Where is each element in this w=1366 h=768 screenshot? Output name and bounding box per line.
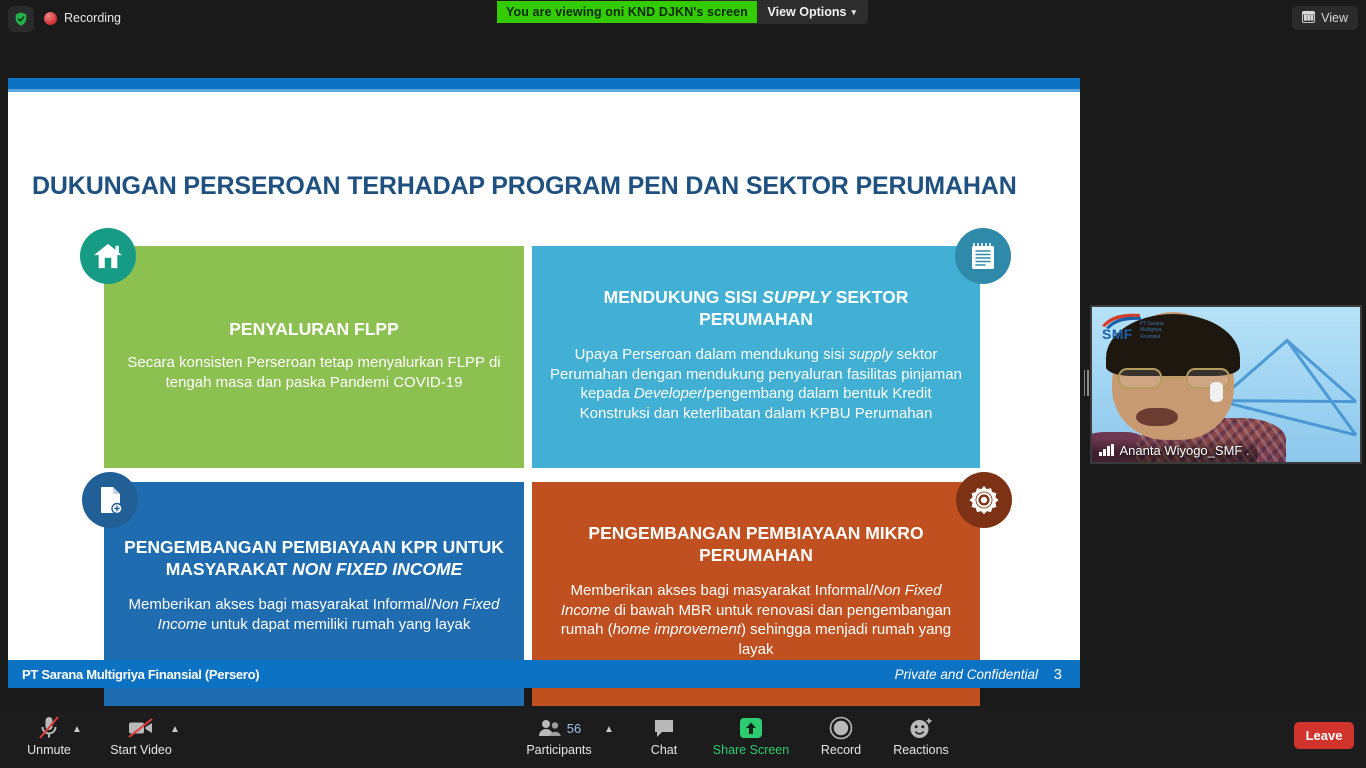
- smf-watermark-subtext: PT SaranaMultigriyaFinansial: [1140, 321, 1164, 340]
- participants-label: Participants: [526, 743, 591, 757]
- card-title-darkblue: PENGEMBANGAN PEMBIAYAAN KPR UNTUK MASYAR…: [118, 536, 510, 581]
- shield-check-icon[interactable]: [8, 6, 34, 32]
- participant-video-tile[interactable]: SMF PT SaranaMultigriyaFinansial Ananta …: [1090, 305, 1362, 464]
- gear-icon: [956, 472, 1012, 528]
- reactions-button[interactable]: Reactions: [882, 714, 960, 762]
- video-options-chevron-icon[interactable]: ▲: [170, 724, 180, 735]
- slide-card-grid: PENYALURAN FLPP Secara konsisten Persero…: [8, 78, 1080, 688]
- audio-options-chevron-icon[interactable]: ▲: [72, 724, 82, 735]
- recording-indicator: Recording: [44, 11, 121, 25]
- shared-screen-slide[interactable]: DUKUNGAN PERSEROAN TERHADAP PROGRAM PEN …: [8, 78, 1080, 688]
- card-mendukung-sisi-supply: MENDUKUNG SISI SUPPLY SEKTOR PERUMAHAN U…: [532, 246, 980, 468]
- slide-page-number: 3: [1054, 666, 1062, 683]
- view-layout-button[interactable]: View: [1292, 6, 1358, 30]
- view-button-label: View: [1321, 11, 1348, 25]
- share-screen-label: Share Screen: [713, 743, 789, 757]
- chat-button[interactable]: Chat: [625, 714, 703, 762]
- record-label: Record: [821, 743, 861, 757]
- record-button[interactable]: Record: [802, 714, 880, 762]
- record-dot-icon: [44, 12, 57, 25]
- record-circle-icon: [829, 714, 853, 742]
- smf-watermark-logo: SMF PT SaranaMultigriyaFinansial: [1100, 313, 1164, 343]
- unmute-button[interactable]: Unmute: [10, 714, 88, 762]
- top-bar: Recording View Options ▾ You are viewing…: [0, 0, 1366, 38]
- grid-view-icon: [1302, 11, 1315, 26]
- microphone-muted-icon: [37, 714, 61, 742]
- card-penyaluran-flpp: PENYALURAN FLPP Secara konsisten Persero…: [104, 246, 524, 468]
- slide-footer-confidential: Private and Confidential: [895, 667, 1038, 682]
- card-title-blue: MENDUKUNG SISI SUPPLY SEKTOR PERUMAHAN: [546, 286, 966, 331]
- reactions-label: Reactions: [893, 743, 949, 757]
- reactions-smiley-icon: [908, 714, 934, 742]
- video-off-icon: [127, 714, 155, 742]
- card-body-green: Secara konsisten Perseroan tetap menyalu…: [118, 353, 510, 393]
- card-body-darkblue: Memberikan akses bagi masyarakat Informa…: [118, 595, 510, 635]
- panel-resize-handle[interactable]: [1082, 368, 1090, 398]
- document-add-icon: [82, 472, 138, 528]
- chat-label: Chat: [651, 743, 677, 757]
- zoom-meeting-window: Recording View Options ▾ You are viewing…: [0, 0, 1366, 768]
- notepad-icon: [955, 228, 1011, 284]
- start-video-button[interactable]: Start Video: [102, 714, 180, 762]
- card-body-blue: Upaya Perseroan dalam mendukung sisi sup…: [546, 345, 966, 424]
- smf-watermark-text: SMF: [1102, 326, 1133, 342]
- chat-bubble-icon: [652, 714, 676, 742]
- unmute-label: Unmute: [27, 743, 71, 757]
- share-screen-button[interactable]: Share Screen: [712, 714, 790, 762]
- slide-footer-company: PT Sarana Multigriya Finansial (Persero): [22, 667, 259, 682]
- card-title-green: PENYALURAN FLPP: [118, 318, 510, 340]
- participant-name-overlay: Ananta Wiyogo_SMF .: [1092, 438, 1257, 462]
- leave-button[interactable]: Leave: [1294, 722, 1354, 749]
- house-icon: [80, 228, 136, 284]
- card-body-orange: Memberikan akses bagi masyarakat Informa…: [546, 581, 966, 660]
- slide-footer: PT Sarana Multigriya Finansial (Persero)…: [8, 660, 1080, 688]
- signal-strength-icon: [1099, 444, 1114, 456]
- start-video-label: Start Video: [110, 743, 172, 757]
- meeting-toolbar: Unmute ▲ Start Video ▲: [0, 706, 1366, 768]
- participants-count: 56: [567, 721, 581, 736]
- card-title-orange: PENGEMBANGAN PEMBIAYAAN MIKRO PERUMAHAN: [546, 522, 966, 567]
- participants-button[interactable]: 56 Participants: [520, 714, 598, 762]
- chevron-down-icon: ▾: [851, 7, 856, 18]
- leave-label: Leave: [1306, 728, 1343, 743]
- participants-options-chevron-icon[interactable]: ▲: [604, 724, 614, 735]
- viewing-screen-banner: You are viewing oni KND DJKN's screen: [497, 1, 757, 23]
- share-screen-icon: [738, 714, 764, 742]
- participant-name: Ananta Wiyogo_SMF .: [1120, 443, 1250, 458]
- viewing-screen-text: You are viewing oni KND DJKN's screen: [506, 5, 748, 19]
- participants-icon: 56: [537, 714, 581, 742]
- view-options-label: View Options: [768, 5, 847, 19]
- recording-label: Recording: [64, 11, 121, 25]
